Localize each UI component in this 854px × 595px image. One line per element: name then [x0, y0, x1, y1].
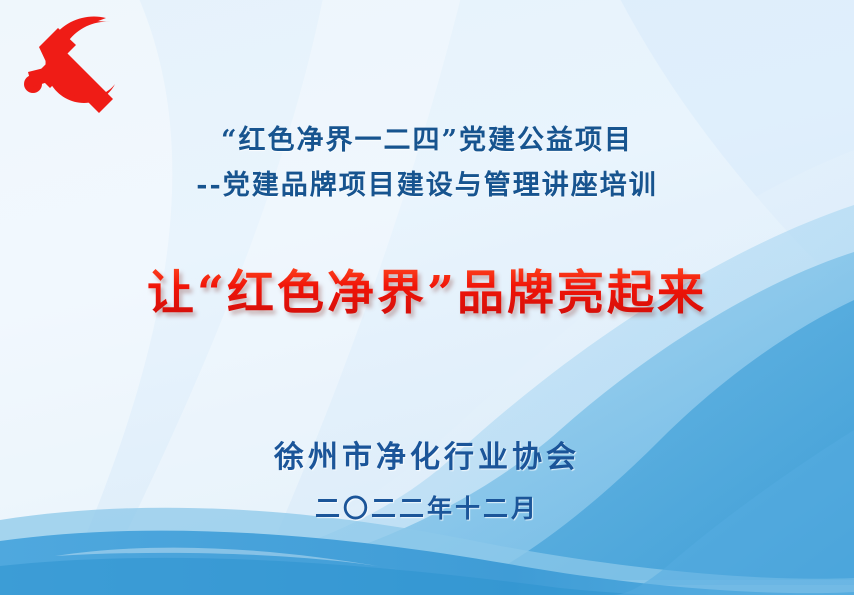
subtitle-line-2: --党建品牌项目建设与管理讲座培训 [0, 163, 854, 208]
cover-slide: “红色净界一二四”党建公益项目 --党建品牌项目建设与管理讲座培训 让“红色净界… [0, 0, 854, 595]
slide-content: “红色净界一二四”党建公益项目 --党建品牌项目建设与管理讲座培训 让“红色净界… [0, 0, 854, 595]
main-headline: 让“红色净界”品牌亮起来 [0, 263, 854, 325]
organization-date: 二〇二二年十二月 [0, 488, 854, 530]
organization-name: 徐州市净化行业协会 [0, 436, 854, 480]
subtitle-block: “红色净界一二四”党建公益项目 --党建品牌项目建设与管理讲座培训 [0, 118, 854, 208]
subtitle-line-1: “红色净界一二四”党建公益项目 [0, 118, 854, 163]
organization-block: 徐州市净化行业协会 二〇二二年十二月 [0, 436, 854, 530]
